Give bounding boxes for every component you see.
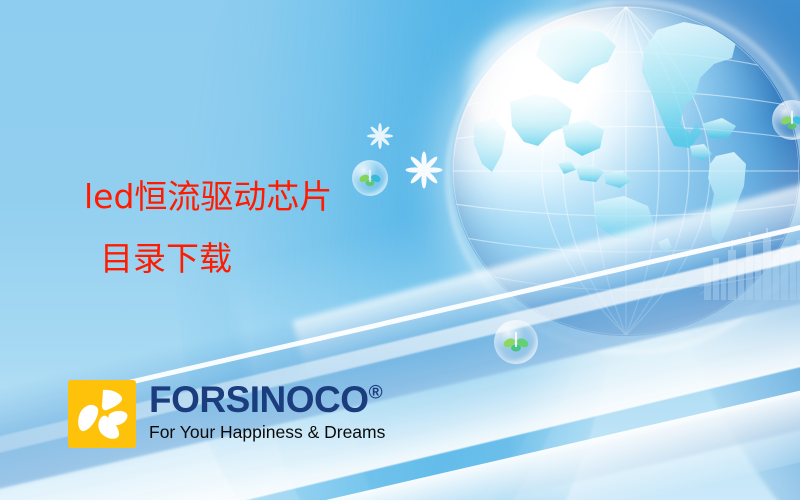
ribbon-deep-band [466,355,800,500]
logo-tagline: For Your Happiness & Dreams [149,421,385,443]
promo-banner: led恒流驱动芯片 目录下载 FORSINOCO® For Your Happi… [0,0,800,500]
headline-line-1: led恒流驱动芯片 [84,177,332,216]
pinwheel-petals-svg [68,380,136,448]
logo-company-name: FORSINOCO® [149,380,385,420]
logo-text-block: FORSINOCO® For Your Happiness & Dreams [149,380,385,443]
logo-name-word: FORSINOCO [149,379,369,420]
pinwheel-icon [494,320,538,364]
four-petal-pinwheel-icon [68,380,136,448]
globe-rim [445,0,800,355]
eight-petal-sparkle-icon-small [366,122,394,150]
pinwheel-icon [352,160,388,196]
ribbon-bottom-pale [322,361,800,500]
city-skyline-icon [700,228,800,300]
pinwheel-icon [772,100,800,140]
company-logo: FORSINOCO® For Your Happiness & Dreams [68,380,385,448]
headline-line-2: 目录下载 [100,228,332,290]
headline: led恒流驱动芯片 目录下载 [84,166,332,290]
registered-trademark-icon: ® [369,383,383,404]
bubble-with-pinwheel-icon-2 [494,320,538,364]
bubble-with-pinwheel-icon-3 [772,100,800,140]
bubble-with-pinwheel-icon-1 [352,160,388,196]
eight-petal-sparkle-icon [404,150,444,190]
